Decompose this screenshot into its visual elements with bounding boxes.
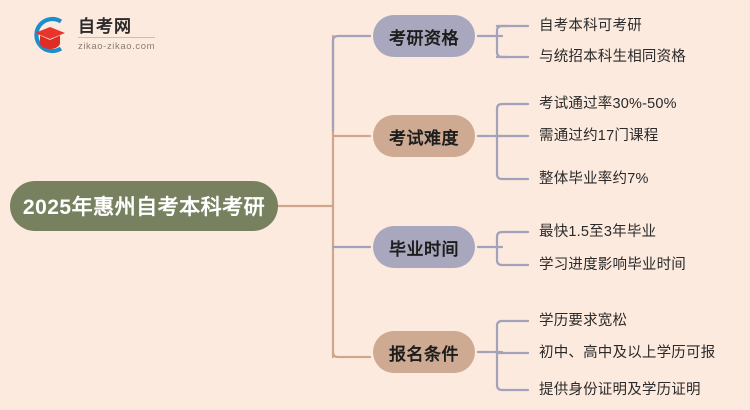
leaf-4-3: 提供身份证明及学历证明 xyxy=(539,382,701,398)
leaf-4-1: 学历要求宽松 xyxy=(539,313,627,329)
root-node-label: 2025年惠州自考本科考研 xyxy=(23,191,265,221)
branch-node-1[interactable]: 考研资格 xyxy=(373,15,475,57)
branch-node-4[interactable]: 报名条件 xyxy=(373,331,475,373)
wire-branch-4 xyxy=(333,352,370,357)
branch-node-3[interactable]: 毕业时间 xyxy=(373,226,475,268)
wire-leaf-bracket-1b xyxy=(497,26,507,57)
mindmap-canvas: 自考网 zikao-zikao.com 2025年惠州自考本科考研 考研资格 考… xyxy=(0,0,750,410)
branch-node-4-label: 报名条件 xyxy=(389,340,459,365)
logo-name: 自考网 xyxy=(78,17,155,38)
wire-branch-1 xyxy=(333,36,370,131)
wire-leaf-bracket-3b xyxy=(497,232,528,265)
logo-text-block: 自考网 zikao-zikao.com xyxy=(78,17,155,53)
root-node[interactable]: 2025年惠州自考本科考研 xyxy=(10,181,278,231)
leaf-3-2: 学习进度影响毕业时间 xyxy=(539,257,686,273)
branch-node-3-label: 毕业时间 xyxy=(389,235,459,260)
leaf-2-3: 整体毕业率约7% xyxy=(539,171,649,187)
graduation-cap-icon xyxy=(28,13,72,57)
wire-leaf-bracket-2b xyxy=(497,104,528,179)
branch-node-1-label: 考研资格 xyxy=(389,24,459,49)
leaf-4-2: 初中、高中及以上学历可报 xyxy=(539,345,715,361)
branch-node-2-label: 考试难度 xyxy=(389,124,459,149)
leaf-2-2: 需通过约17门课程 xyxy=(539,128,658,144)
leaf-2-1: 考试通过率30%-50% xyxy=(539,96,677,112)
leaf-1-2: 与统招本科生相同资格 xyxy=(539,49,686,65)
leaf-3-1: 最快1.5至3年毕业 xyxy=(539,224,656,240)
leaf-1-1: 自考本科可考研 xyxy=(539,18,642,34)
logo-domain: zikao-zikao.com xyxy=(78,38,155,53)
branch-node-2[interactable]: 考试难度 xyxy=(373,115,475,157)
wire-leaf-bracket-4b xyxy=(497,321,528,390)
site-logo[interactable]: 自考网 zikao-zikao.com xyxy=(28,12,228,58)
